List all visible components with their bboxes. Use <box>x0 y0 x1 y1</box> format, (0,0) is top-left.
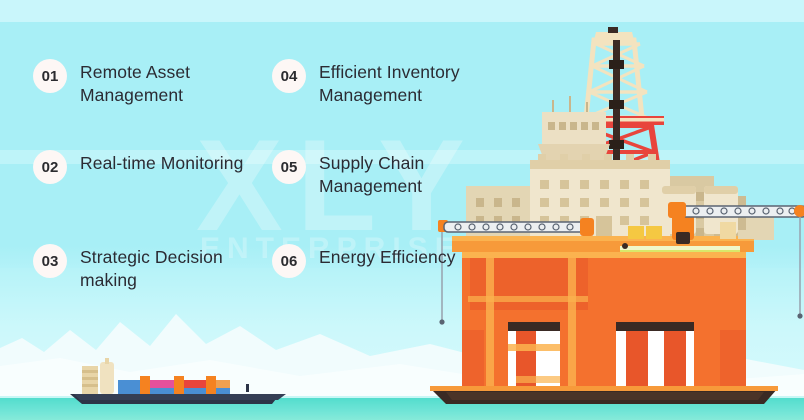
list-item-label-04: Efficient Inventory Management <box>319 59 519 108</box>
badge-number-03: 03 <box>33 244 67 278</box>
list-item-label-03: Strategic Decision making <box>80 244 280 293</box>
badge-number-05: 05 <box>272 150 306 184</box>
list-item-04[interactable]: 04 Efficient Inventory Management <box>272 59 519 108</box>
control-tower <box>538 96 610 160</box>
infographic-canvas: XLY ENTERPRISE SO <box>0 0 804 420</box>
list-item-02[interactable]: 02 Real-time Monitoring <box>33 150 243 184</box>
list-item-label-02: Real-time Monitoring <box>80 150 243 175</box>
badge-number-04: 04 <box>272 59 306 93</box>
badge-number-01: 01 <box>33 59 67 93</box>
list-item-label-05: Supply Chain Management <box>319 150 519 199</box>
benefits-list: 01 Remote Asset Management 02 Real-time … <box>0 0 540 420</box>
list-item-05[interactable]: 05 Supply Chain Management <box>272 150 519 199</box>
list-item-label-01: Remote Asset Management <box>80 59 280 108</box>
badge-number-06: 06 <box>272 244 306 278</box>
list-item-label-06: Energy Efficiency <box>319 244 456 269</box>
list-item-03[interactable]: 03 Strategic Decision making <box>33 244 280 293</box>
badge-number-02: 02 <box>33 150 67 184</box>
list-item-06[interactable]: 06 Energy Efficiency <box>272 244 456 278</box>
list-item-01[interactable]: 01 Remote Asset Management <box>33 59 280 108</box>
